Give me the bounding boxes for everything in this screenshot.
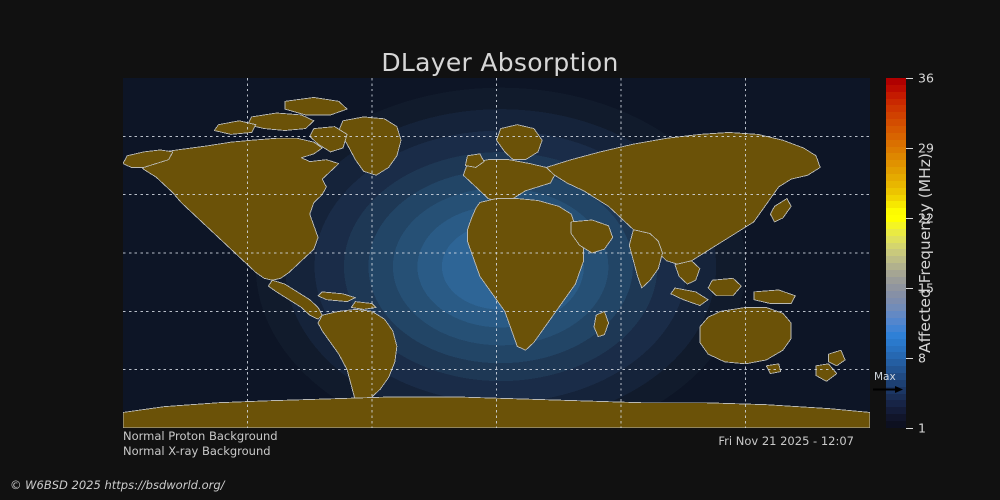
colorbar-segment-29	[886, 277, 906, 284]
colorbar-segment-5	[886, 112, 906, 119]
colorbar-segment-1	[886, 85, 906, 92]
background-notes: Normal Proton Background Normal X-ray Ba…	[123, 429, 278, 459]
colorbar-segment-46	[886, 394, 906, 401]
colorbar-segment-11	[886, 153, 906, 160]
colorbar[interactable]	[886, 78, 906, 428]
colorbar-segment-7	[886, 126, 906, 133]
xray-background-note: Normal X-ray Background	[123, 444, 278, 459]
colorbar-segment-8	[886, 133, 906, 140]
colorbar-segment-4	[886, 105, 906, 112]
colorbar-segment-31	[886, 291, 906, 298]
page-root: DLayer Absorption	[0, 0, 1000, 500]
colorbar-segment-12	[886, 160, 906, 167]
colorbar-segment-27	[886, 263, 906, 270]
colorbar-segment-42	[886, 366, 906, 373]
colorbar-segment-9	[886, 140, 906, 147]
colorbar-segment-22	[886, 229, 906, 236]
colorbar-segment-23	[886, 236, 906, 243]
colorbar-segment-30	[886, 284, 906, 291]
colorbar-segment-39	[886, 346, 906, 353]
colorbar-segment-44	[886, 380, 906, 387]
colorbar-segment-48	[886, 407, 906, 414]
timestamp-label: Fri Nov 21 2025 - 12:07	[718, 434, 854, 449]
colorbar-segment-34	[886, 311, 906, 318]
colorbar-tick-dash	[906, 148, 913, 149]
colorbar-tick-dash	[906, 358, 913, 359]
colorbar-segment-49	[886, 414, 906, 421]
colorbar-segment-26	[886, 256, 906, 263]
colorbar-segment-38	[886, 339, 906, 346]
colorbar-segment-2	[886, 92, 906, 99]
colorbar-segment-28	[886, 270, 906, 277]
colorbar-segment-35	[886, 318, 906, 325]
colorbar-segment-6	[886, 119, 906, 126]
colorbar-segment-45	[886, 387, 906, 394]
colorbar-segment-50	[886, 421, 906, 428]
colorbar-tick-dash	[906, 428, 913, 429]
world-map-svg	[123, 78, 870, 428]
proton-background-note: Normal Proton Background	[123, 429, 278, 444]
world-map-panel[interactable]	[123, 78, 870, 428]
colorbar-segment-33	[886, 304, 906, 311]
colorbar-segment-18	[886, 201, 906, 208]
colorbar-tick-dash	[906, 288, 913, 289]
page-title: DLayer Absorption	[0, 48, 1000, 78]
colorbar-segment-21	[886, 222, 906, 229]
colorbar-segment-16	[886, 188, 906, 195]
colorbar-tick-dash	[906, 218, 913, 219]
colorbar-segment-20	[886, 215, 906, 222]
colorbar-segment-41	[886, 359, 906, 366]
copyright-label: © W6BSD 2025 https://bsdworld.org/	[10, 478, 225, 492]
colorbar-segment-10	[886, 147, 906, 154]
colorbar-axis-label: Affected Frequency (MHz)	[915, 78, 935, 428]
colorbar-segment-32	[886, 298, 906, 305]
colorbar-segment-19	[886, 208, 906, 215]
colorbar-segment-13	[886, 167, 906, 174]
colorbar-segment-36	[886, 325, 906, 332]
colorbar-segment-15	[886, 181, 906, 188]
colorbar-segment-3	[886, 99, 906, 106]
colorbar-segment-37	[886, 332, 906, 339]
colorbar-segment-25	[886, 249, 906, 256]
colorbar-segment-24	[886, 243, 906, 250]
colorbar-segment-17	[886, 195, 906, 202]
colorbar-segment-40	[886, 352, 906, 359]
colorbar-segment-14	[886, 174, 906, 181]
colorbar-segment-43	[886, 373, 906, 380]
colorbar-segment-47	[886, 400, 906, 407]
colorbar-segment-0	[886, 78, 906, 85]
